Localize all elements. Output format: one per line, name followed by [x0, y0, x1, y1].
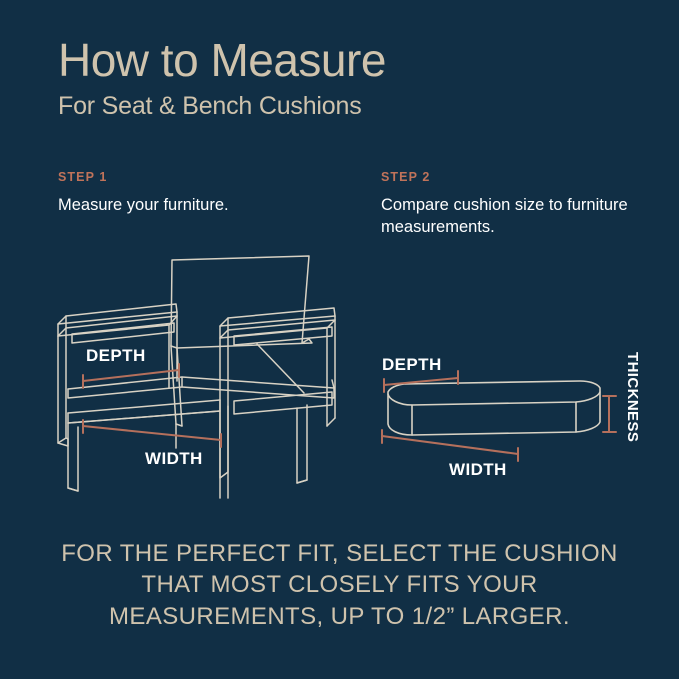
header: How to Measure For Seat & Bench Cushions: [58, 36, 618, 121]
cushion-diagram: DEPTH WIDTH THICKNESS: [360, 340, 640, 490]
cushion-thickness-dimension: [603, 396, 616, 432]
footer-line-2: THAT MOST CLOSELY FITS YOUR: [0, 569, 679, 600]
chair-depth-label: DEPTH: [86, 346, 146, 365]
cushion-illustration: [388, 381, 600, 435]
infographic-canvas: How to Measure For Seat & Bench Cushions…: [0, 0, 679, 679]
step-1-text: Measure your furniture.: [58, 195, 348, 217]
chair-depth-dimension: [83, 364, 179, 388]
cushion-depth-dimension: [384, 371, 458, 392]
step-1: STEP 1 Measure your furniture.: [58, 170, 348, 217]
chair-diagram: DEPTH WIDTH: [44, 248, 364, 498]
cushion-thickness-label: THICKNESS: [624, 352, 641, 442]
page-title: How to Measure: [58, 36, 618, 85]
page-subtitle: For Seat & Bench Cushions: [58, 91, 618, 121]
chair-width-label: WIDTH: [145, 449, 203, 468]
step-2: STEP 2 Compare cushion size to furniture…: [381, 170, 646, 239]
step-1-kicker: STEP 1: [58, 170, 348, 184]
step-2-kicker: STEP 2: [381, 170, 646, 184]
chair-width-dimension: [83, 420, 221, 447]
footer-line-3: MEASUREMENTS, UP TO 1/2” LARGER.: [0, 601, 679, 632]
step-2-text: Compare cushion size to furniture measur…: [381, 195, 646, 239]
footer-callout: FOR THE PERFECT FIT, SELECT THE CUSHION …: [0, 538, 679, 632]
cushion-width-label: WIDTH: [449, 460, 507, 479]
footer-line-1: FOR THE PERFECT FIT, SELECT THE CUSHION: [0, 538, 679, 569]
cushion-depth-label: DEPTH: [382, 355, 442, 374]
